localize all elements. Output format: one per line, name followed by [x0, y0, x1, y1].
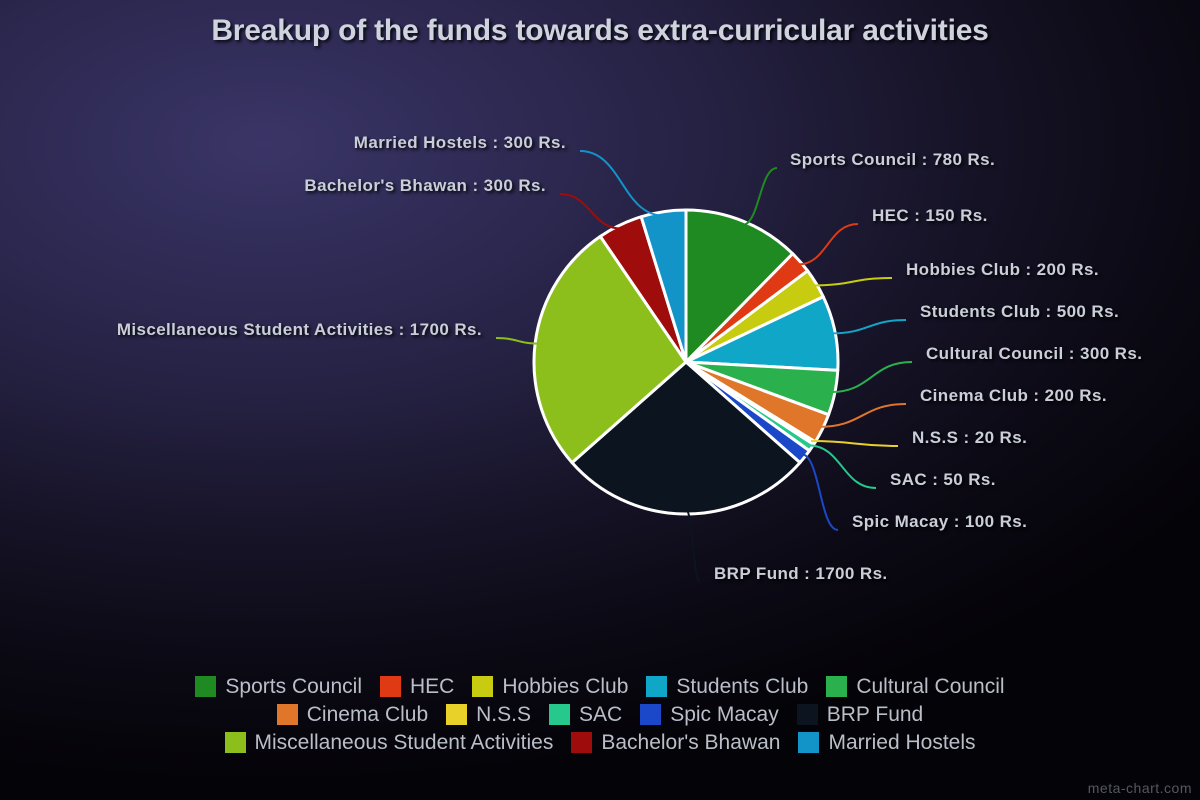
pie-slice-label: N.S.S : 20 Rs. [912, 428, 1027, 448]
leader-line [560, 194, 622, 229]
pie-slice-label: Miscellaneous Student Activities : 1700 … [117, 320, 482, 340]
legend-label: Students Club [676, 676, 808, 697]
legend-item[interactable]: N.S.S [446, 704, 531, 725]
legend-item[interactable]: Sports Council [195, 676, 362, 697]
legend-swatch-icon [472, 676, 493, 697]
leader-line [808, 445, 876, 488]
legend-swatch-icon [277, 704, 298, 725]
legend-item[interactable]: Bachelor's Bhawan [571, 732, 780, 753]
legend-swatch-icon [225, 732, 246, 753]
pie-slice-label: BRP Fund : 1700 Rs. [714, 564, 888, 584]
pie-slice-label: Bachelor's Bhawan : 300 Rs. [304, 176, 546, 196]
legend-swatch-icon [646, 676, 667, 697]
watermark: meta-chart.com [1088, 780, 1192, 796]
legend-item[interactable]: Cinema Club [277, 704, 428, 725]
legend-label: Cultural Council [856, 676, 1004, 697]
leader-line [742, 168, 777, 225]
chart-canvas: Breakup of the funds towards extra-curri… [0, 0, 1200, 800]
legend-label: SAC [579, 704, 622, 725]
legend-swatch-icon [571, 732, 592, 753]
legend-row: Miscellaneous Student ActivitiesBachelor… [0, 728, 1200, 756]
legend-item[interactable]: Spic Macay [640, 704, 779, 725]
legend-label: Bachelor's Bhawan [601, 732, 780, 753]
legend-label: HEC [410, 676, 454, 697]
legend-swatch-icon [797, 704, 818, 725]
legend-swatch-icon [549, 704, 570, 725]
legend-row: Cinema ClubN.S.SSACSpic MacayBRP Fund [0, 700, 1200, 728]
legend-item[interactable]: Students Club [646, 676, 808, 697]
legend-swatch-icon [195, 676, 216, 697]
pie-slice-label: HEC : 150 Rs. [872, 206, 988, 226]
legend-item[interactable]: HEC [380, 676, 454, 697]
legend-label: Miscellaneous Student Activities [255, 732, 554, 753]
leader-line [811, 441, 898, 446]
pie-slice-label: SAC : 50 Rs. [890, 470, 996, 490]
legend-label: BRP Fund [827, 704, 924, 725]
pie-slice-label: Students Club : 500 Rs. [920, 302, 1119, 322]
legend-item[interactable]: Married Hostels [798, 732, 975, 753]
legend-swatch-icon [380, 676, 401, 697]
legend-label: Sports Council [225, 676, 362, 697]
legend-item[interactable]: BRP Fund [797, 704, 924, 725]
pie-slice-label: Cultural Council : 300 Rs. [926, 344, 1142, 364]
legend-item[interactable]: Cultural Council [826, 676, 1004, 697]
leader-line [831, 320, 906, 333]
legend-swatch-icon [640, 704, 661, 725]
chart-legend: Sports CouncilHECHobbies ClubStudents Cl… [0, 672, 1200, 756]
leader-line [686, 510, 700, 582]
legend-label: N.S.S [476, 704, 531, 725]
legend-label: Spic Macay [670, 704, 779, 725]
legend-item[interactable]: Miscellaneous Student Activities [225, 732, 554, 753]
leader-line [802, 454, 838, 530]
legend-label: Cinema Club [307, 704, 428, 725]
pie-slice-label: Married Hostels : 300 Rs. [354, 133, 566, 153]
legend-label: Hobbies Club [502, 676, 628, 697]
legend-item[interactable]: SAC [549, 704, 622, 725]
legend-row: Sports CouncilHECHobbies ClubStudents Cl… [0, 672, 1200, 700]
leader-line [813, 278, 892, 285]
legend-item[interactable]: Hobbies Club [472, 676, 628, 697]
pie-slice-label: Hobbies Club : 200 Rs. [906, 260, 1099, 280]
pie-slice-label: Sports Council : 780 Rs. [790, 150, 995, 170]
leader-line [831, 362, 912, 392]
leader-line [580, 151, 664, 216]
leader-line [797, 224, 858, 265]
pie-slice-label: Spic Macay : 100 Rs. [852, 512, 1027, 532]
leader-line [496, 338, 539, 344]
legend-label: Married Hostels [828, 732, 975, 753]
legend-swatch-icon [798, 732, 819, 753]
pie-slice-group [534, 210, 838, 514]
pie-slice-label: Cinema Club : 200 Rs. [920, 386, 1107, 406]
legend-swatch-icon [826, 676, 847, 697]
legend-swatch-icon [446, 704, 467, 725]
